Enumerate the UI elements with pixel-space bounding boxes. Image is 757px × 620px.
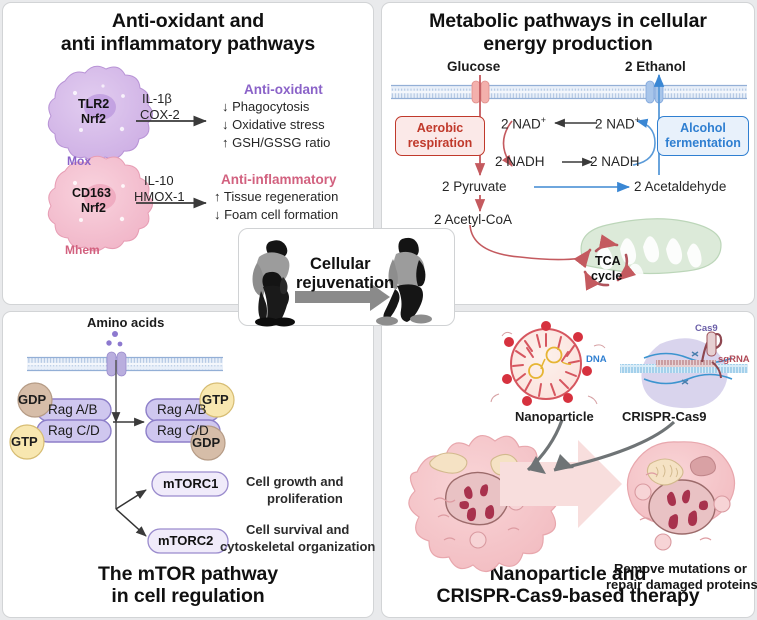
arrow-to-mtorc2: [116, 509, 146, 536]
outcome-antiinflammatory-heading: Anti-inflammatory: [221, 172, 337, 187]
outcome-line-1: Remove mutations or: [614, 561, 747, 576]
outcome-line-2: repair damaged proteins: [606, 577, 757, 592]
label-sgrna: sgRNA: [718, 354, 750, 365]
plasma-membrane: [391, 85, 747, 99]
cell-mox-name: Mox: [67, 154, 91, 168]
center-label-line1: Cellular: [310, 255, 371, 274]
nad-right-sup: +: [635, 115, 640, 125]
nad-left-text: 2 NAD: [501, 117, 541, 132]
label-glucose: Glucose: [447, 59, 500, 74]
label-nad-right: 2 NAD+: [595, 115, 640, 132]
panel-mtor: The mTOR pathway in cell regulation: [2, 311, 374, 618]
outcome-antioxidant-item-1: ↓ Oxidative stress: [222, 117, 325, 132]
alcohol-line-1: Alcohol: [658, 121, 748, 136]
mtor-graphics: [3, 312, 375, 619]
panel-crispr: Nanoparticle and CRISPR-Cas9-based thera…: [381, 311, 755, 618]
cell-repaired-icon: [627, 442, 734, 550]
elderly-person-silhouette: [253, 240, 296, 326]
crispr-cas9-icon: [620, 332, 748, 408]
outcome-antiinflammatory-item-0: ↑ Tissue regeneration: [214, 189, 338, 204]
cell-mox-marker2: Nrf2: [81, 112, 106, 126]
outcome-antioxidant-item-0: ↓ Phagocytosis: [222, 99, 309, 114]
nad-right-text: 2 NAD: [595, 117, 635, 132]
amino-acid-dots: [106, 331, 122, 346]
label-tca-line2: cycle: [591, 269, 622, 283]
arrow2-label-1: IL-10: [144, 173, 174, 188]
label-nad-left: 2 NAD+: [501, 115, 546, 132]
label-amino-acids: Amino acids: [87, 315, 164, 330]
arrow-to-mtorc1: [116, 490, 146, 509]
label-dna: DNA: [586, 354, 607, 365]
label-acetyl-coa: 2 Acetyl-CoA: [434, 212, 512, 227]
cell-mhem-marker1: CD163: [72, 186, 111, 200]
label-cas9: Cas9: [695, 323, 718, 334]
label-left-rag-ab: Rag A/B: [48, 402, 98, 417]
label-left-rag-cd: Rag C/D: [48, 423, 100, 438]
label-left-gdp: GDP: [18, 392, 46, 407]
arrow-acetylcoa-tca: [470, 225, 595, 260]
graphical-abstract: Anti-oxidant and anti inflammatory pathw…: [0, 0, 757, 620]
nad-left-sup: +: [541, 115, 546, 125]
label-crispr-cas9: CRISPR-Cas9: [622, 409, 707, 424]
arrow2-label-2: HMOX-1: [134, 189, 185, 204]
outcome-antioxidant-item-2: ↑ GSH/GSSG ratio: [222, 135, 330, 150]
cell-mhem-marker2: Nrf2: [81, 201, 106, 215]
label-acetaldehyde: 2 Acetaldehyde: [634, 179, 726, 194]
effect-mtorc2-line1: Cell survival and: [246, 522, 349, 537]
effect-mtorc1-line2: proliferation: [267, 491, 343, 506]
outcome-antioxidant-heading: Anti-oxidant: [244, 82, 323, 97]
arrow1-label-2: COX-2: [140, 107, 180, 122]
label-tca-line1: TCA: [595, 254, 621, 268]
label-nadh-left: 2 NADH: [495, 154, 545, 169]
sgrna-hybrid: [656, 360, 716, 367]
label-left-gtp: GTP: [11, 434, 38, 449]
aerobic-line-2: respiration: [396, 136, 484, 151]
cell-mhem-name: Mhem: [65, 243, 100, 257]
label-mtorc1: mTORC1: [163, 476, 218, 491]
label-ethanol: 2 Ethanol: [625, 59, 686, 74]
panel-cellular-rejuvenation: Cellular rejuvenation: [238, 228, 455, 326]
effect-mtorc1-line1: Cell growth and: [246, 474, 344, 489]
label-pyruvate: 2 Pyruvate: [442, 179, 507, 194]
effect-mtorc2-line2: cytoskeletal organization: [220, 539, 375, 554]
label-nadh-right: 2 NADH: [590, 154, 640, 169]
outcome-antiinflammatory-item-1: ↓ Foam cell formation: [214, 207, 338, 222]
aerobic-line-1: Aerobic: [396, 121, 484, 136]
aerobic-respiration-box: Aerobic respiration: [395, 116, 485, 156]
alcohol-line-2: fermentation: [658, 136, 748, 151]
label-right-rag-cd: Rag C/D: [157, 423, 209, 438]
label-nanoparticle: Nanoparticle: [515, 409, 594, 424]
center-label-line2: rejuvenation: [296, 274, 394, 293]
alcohol-fermentation-box: Alcohol fermentation: [657, 116, 749, 156]
label-mtorc2: mTORC2: [158, 533, 213, 548]
label-right-rag-ab: Rag A/B: [157, 402, 207, 417]
cell-mox-marker1: TLR2: [78, 97, 109, 111]
arrow1-label-1: IL-1β: [142, 91, 172, 106]
